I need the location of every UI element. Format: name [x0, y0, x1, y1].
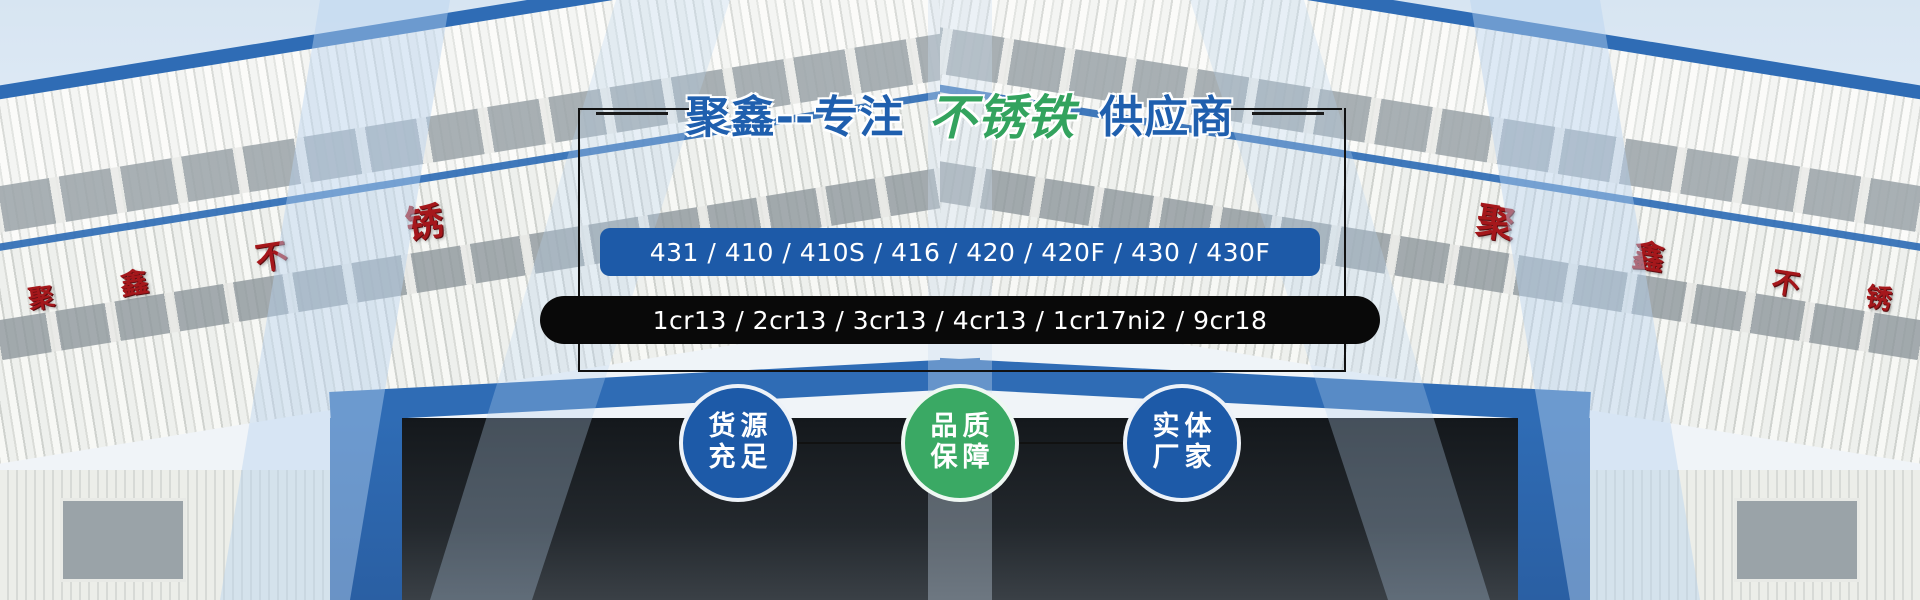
- headline-prefix: 聚鑫--专注: [686, 81, 905, 145]
- badge-quality: 品质 保障: [901, 384, 1019, 502]
- badge-quality-line2: 保障: [926, 443, 995, 474]
- feature-badges: 货源 充足 品质 保障 实体 厂家: [0, 378, 1920, 508]
- badge-factory-line1: 实体: [1148, 412, 1217, 443]
- grade-pill-secondary: 1cr13 / 2cr13 / 3cr13 / 4cr13 / 1cr17ni2…: [540, 296, 1380, 344]
- grade-pill-primary: 431 / 410 / 410S / 416 / 420 / 420F / 43…: [600, 228, 1320, 276]
- badge-connector: [1019, 442, 1123, 444]
- headline-rule-left: [596, 112, 668, 115]
- headline-suffix: 供应商: [1099, 81, 1234, 145]
- headline-highlight: 不锈铁: [922, 78, 1081, 148]
- headline: 聚鑫--专注 不锈铁 供应商: [0, 78, 1920, 148]
- badge-quality-line1: 品质: [926, 412, 995, 443]
- banner-content: 聚鑫--专注 不锈铁 供应商 431 / 410 / 410S / 416 / …: [0, 0, 1920, 600]
- badge-factory: 实体 厂家: [1123, 384, 1241, 502]
- badge-supply-line2: 充足: [704, 443, 773, 474]
- hero-banner: 聚 鑫 不 锈 锈 不 鑫 聚 聚鑫--专注 不锈铁: [0, 0, 1920, 600]
- badge-supply-line1: 货源: [704, 412, 773, 443]
- badge-supply: 货源 充足: [679, 384, 797, 502]
- badge-connector: [797, 442, 901, 444]
- headline-rule-right: [1252, 112, 1324, 115]
- badge-factory-line2: 厂家: [1148, 443, 1217, 474]
